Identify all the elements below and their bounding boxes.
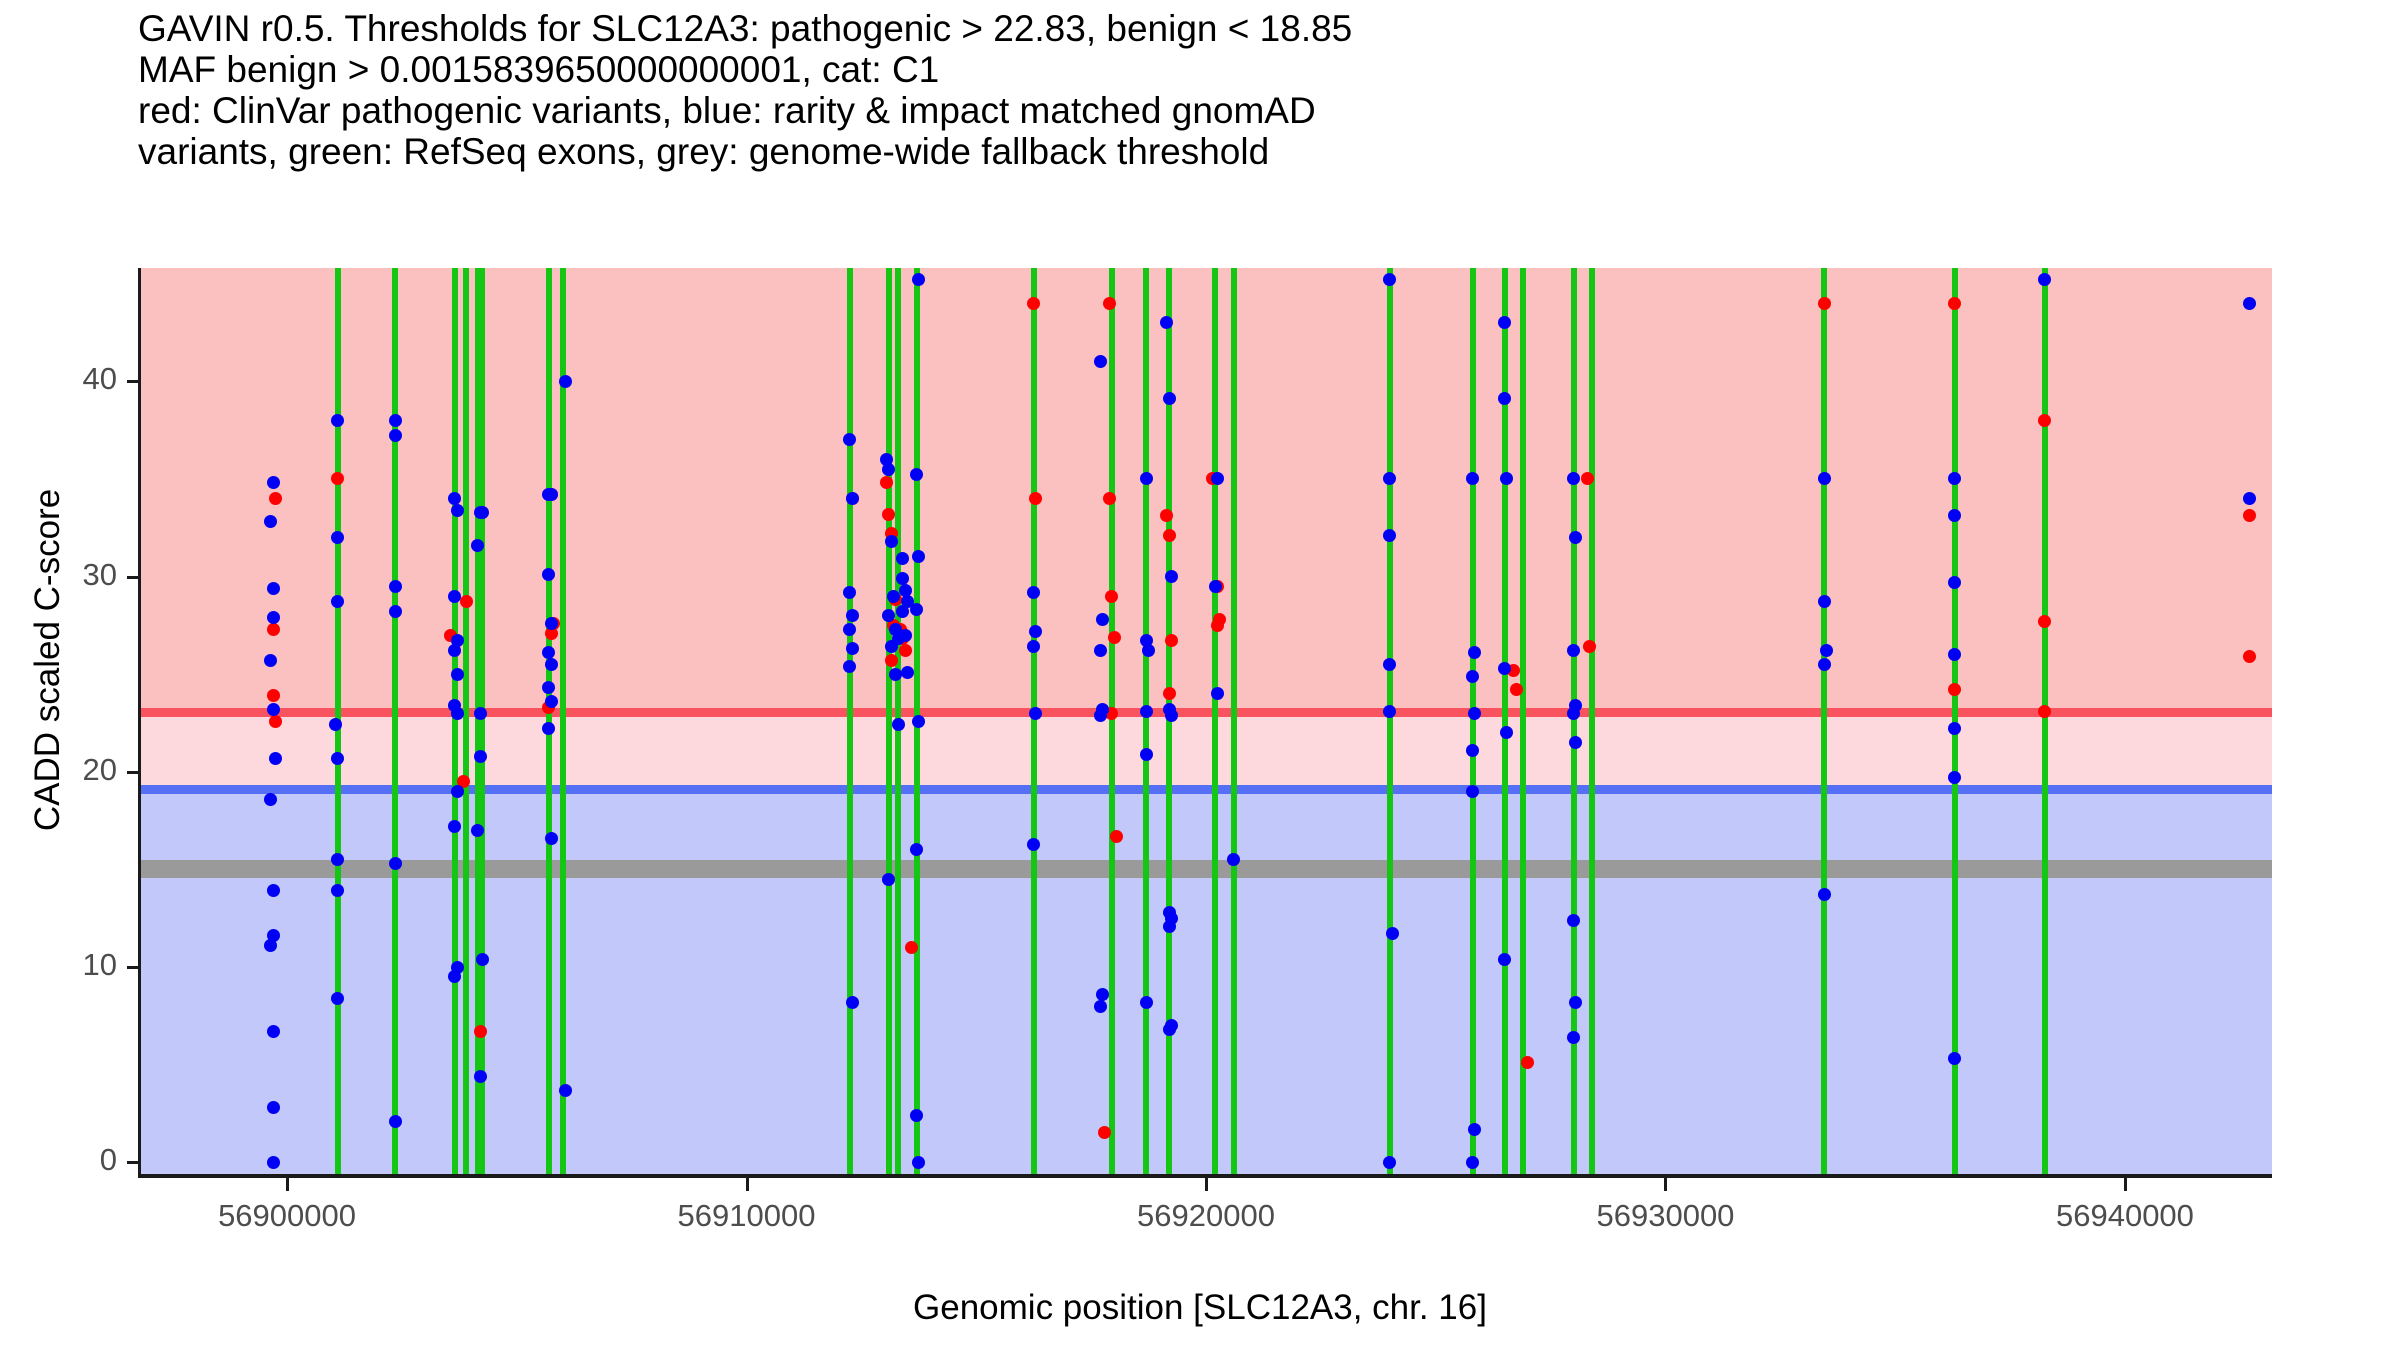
title-line-1: GAVIN r0.5. Thresholds for SLC12A3: path… <box>138 8 2338 49</box>
pathogenic-variant-point <box>2243 650 2256 663</box>
exon-marker <box>1387 268 1393 1174</box>
pathogenic-variant-point <box>1163 529 1176 542</box>
exon-marker <box>1143 268 1149 1174</box>
gnomad-variant-point <box>559 1084 572 1097</box>
gnomad-variant-point <box>451 504 464 517</box>
x-axis-tick-label: 56910000 <box>627 1198 867 1234</box>
y-axis-tick <box>127 576 139 579</box>
gnomad-variant-point <box>1096 988 1109 1001</box>
y-axis-tick <box>127 1161 139 1164</box>
pathogenic-variant-point <box>882 508 895 521</box>
gnomad-variant-point <box>1567 914 1580 927</box>
pathogenic-variant-point <box>1108 631 1121 644</box>
gnomad-variant-point <box>267 703 280 716</box>
exon-marker <box>463 268 469 1174</box>
gnomad-variant-point <box>1466 1156 1479 1169</box>
pathogenic-variant-point <box>1211 619 1224 632</box>
gnomad-variant-point <box>1094 1000 1107 1013</box>
gnomad-variant-point <box>448 590 461 603</box>
exon-marker <box>886 268 892 1174</box>
gnomad-variant-point <box>267 1156 280 1169</box>
gnomad-variant-point <box>1567 707 1580 720</box>
gnomad-variant-point <box>389 857 402 870</box>
x-axis-tick-label: 56920000 <box>1086 1198 1326 1234</box>
gnomad-variant-point <box>545 832 558 845</box>
pathogenic-variant-point <box>269 715 282 728</box>
pathogenic-variant-point <box>885 654 898 667</box>
gnomad-variant-point <box>474 750 487 763</box>
exon-marker <box>1821 268 1827 1174</box>
gnomad-variant-point <box>2243 492 2256 505</box>
gnomad-variant-point <box>1466 785 1479 798</box>
gnomad-variant-point <box>892 718 905 731</box>
x-axis-tick <box>286 1178 289 1191</box>
gnomad-variant-point <box>476 953 489 966</box>
gnomad-variant-point <box>1140 705 1153 718</box>
title-line-4: variants, green: RefSeq exons, grey: gen… <box>138 131 2338 172</box>
gnomad-variant-point <box>1466 670 1479 683</box>
gnomad-variant-point <box>545 617 558 630</box>
gnomad-variant-point <box>1569 996 1582 1009</box>
gnomad-variant-point <box>846 609 859 622</box>
gnomad-variant-point <box>1165 570 1178 583</box>
y-axis-tick-label: 0 <box>22 1142 117 1178</box>
x-axis-tick-label: 56940000 <box>2005 1198 2245 1234</box>
x-axis-title: Genomic position [SLC12A3, chr. 16] <box>600 1288 1800 1328</box>
gnomad-variant-point <box>2243 297 2256 310</box>
gnomad-variant-point <box>331 414 344 427</box>
gnomad-variant-point <box>1468 1123 1481 1136</box>
pathogenic-variant-point <box>1103 297 1116 310</box>
plot-panel <box>140 268 2272 1174</box>
gnomad-variant-point <box>389 605 402 618</box>
gnomad-variant-point <box>1468 707 1481 720</box>
chart-title-block: GAVIN r0.5. Thresholds for SLC12A3: path… <box>138 8 2338 172</box>
gnomad-variant-point <box>1567 1031 1580 1044</box>
exon-marker <box>2042 268 2048 1174</box>
gnomad-variant-point <box>1466 744 1479 757</box>
gnomad-variant-point <box>1163 920 1176 933</box>
exon-marker <box>1589 268 1595 1174</box>
pathogenic-variant-point <box>2038 615 2051 628</box>
gnomad-variant-point <box>331 531 344 544</box>
pathogenic-variant-point <box>2038 414 2051 427</box>
y-axis-tick <box>127 966 139 969</box>
gnomad-variant-point <box>846 996 859 1009</box>
gnomad-variant-point <box>1209 580 1222 593</box>
gnomad-variant-point <box>267 1025 280 1038</box>
gnomad-variant-point <box>1140 996 1153 1009</box>
gnomad-variant-point <box>1027 586 1040 599</box>
exon-marker <box>452 268 458 1174</box>
gnomad-variant-point <box>269 752 282 765</box>
x-axis-tick <box>1664 1178 1667 1191</box>
gnomad-variant-point <box>1818 595 1831 608</box>
gnomad-variant-point <box>1383 1156 1396 1169</box>
gnomad-variant-point <box>476 506 489 519</box>
gnomad-variant-point <box>1163 1023 1176 1036</box>
gnomad-variant-point <box>1096 613 1109 626</box>
exon-marker <box>1109 268 1115 1174</box>
title-line-2: MAF benign > 0.0015839650000000001, cat:… <box>138 49 2338 90</box>
exon-marker <box>1952 268 1958 1174</box>
exon-marker <box>1212 268 1218 1174</box>
gnomad-variant-point <box>545 488 558 501</box>
gnomad-variant-point <box>1163 392 1176 405</box>
y-axis-tick <box>127 771 139 774</box>
gnomad-variant-point <box>910 1109 923 1122</box>
gnomad-variant-point <box>1383 705 1396 718</box>
gnomad-variant-point <box>331 992 344 1005</box>
gnomad-variant-point <box>885 535 898 548</box>
gnomad-variant-point <box>1818 888 1831 901</box>
gnomad-variant-point <box>331 752 344 765</box>
exon-marker <box>1520 268 1526 1174</box>
y-axis-title: CADD scaled C-score <box>28 260 68 1060</box>
x-axis-tick <box>1205 1178 1208 1191</box>
gnomad-variant-point <box>1094 709 1107 722</box>
chart-page: GAVIN r0.5. Thresholds for SLC12A3: path… <box>0 0 2400 1350</box>
y-axis-tick <box>127 380 139 383</box>
gnomad-variant-point <box>264 793 277 806</box>
pathogenic-variant-point <box>474 1025 487 1038</box>
exon-marker <box>1231 268 1237 1174</box>
gnomad-variant-point <box>1820 644 1833 657</box>
pathogenic-variant-point <box>1103 492 1116 505</box>
pathogenic-variant-point <box>1105 590 1118 603</box>
pathogenic-variant-point <box>2243 509 2256 522</box>
exon-marker <box>479 268 485 1174</box>
gnomad-variant-point <box>451 707 464 720</box>
exon-marker <box>1470 268 1476 1174</box>
gnomad-variant-point <box>545 658 558 671</box>
gnomad-variant-point <box>545 695 558 708</box>
gnomad-variant-point <box>451 785 464 798</box>
gnomad-variant-point <box>1094 644 1107 657</box>
gnomad-variant-point <box>1498 662 1511 675</box>
pathogenic-variant-point <box>267 623 280 636</box>
gnomad-variant-point <box>846 492 859 505</box>
plot-clip-area <box>140 268 2272 1174</box>
pathogenic-variant-point <box>2038 705 2051 718</box>
pathogenic-variant-point <box>899 644 912 657</box>
x-axis-tick-label: 56930000 <box>1545 1198 1785 1234</box>
gnomad-variant-point <box>1498 953 1511 966</box>
gnomad-variant-point <box>1386 927 1399 940</box>
gnomad-variant-point <box>471 539 484 552</box>
gnomad-variant-point <box>1818 472 1831 485</box>
y-axis-line <box>138 268 141 1174</box>
gnomad-variant-point <box>1165 709 1178 722</box>
exon-marker <box>1031 268 1037 1174</box>
pathogenic-variant-point <box>1510 683 1523 696</box>
gnomad-variant-point <box>471 824 484 837</box>
gnomad-variant-point <box>559 375 572 388</box>
gnomad-variant-point <box>1027 838 1040 851</box>
exon-marker <box>560 268 566 1174</box>
gnomad-variant-point <box>267 611 280 624</box>
pathogenic-variant-point <box>1163 687 1176 700</box>
gnomad-variant-point <box>1094 355 1107 368</box>
pathogenic-variant-point <box>269 492 282 505</box>
title-line-3: red: ClinVar pathogenic variants, blue: … <box>138 90 2338 131</box>
gnomad-variant-point <box>389 414 402 427</box>
gnomad-variant-point <box>389 580 402 593</box>
gnomad-variant-point <box>899 629 912 642</box>
gnomad-variant-point <box>846 642 859 655</box>
gnomad-variant-point <box>474 1070 487 1083</box>
exon-marker <box>546 268 552 1174</box>
pathogenic-variant-point <box>1027 297 1040 310</box>
gnomad-variant-point <box>389 429 402 442</box>
gnomad-variant-point <box>1140 748 1153 761</box>
gnomad-variant-point <box>267 1101 280 1114</box>
gnomad-variant-point <box>267 476 280 489</box>
gnomad-variant-point <box>843 586 856 599</box>
x-axis-tick <box>746 1178 749 1191</box>
exon-marker <box>847 268 853 1174</box>
gnomad-variant-point <box>451 668 464 681</box>
gnomad-variant-point <box>1818 658 1831 671</box>
gnomad-variant-point <box>267 582 280 595</box>
pathogenic-variant-point <box>1818 297 1831 310</box>
pathogenic-variant-point <box>267 689 280 702</box>
gnomad-variant-point <box>912 715 925 728</box>
gnomad-variant-point <box>389 1115 402 1128</box>
gnomad-variant-point <box>885 640 898 653</box>
gnomad-variant-point <box>901 666 914 679</box>
gnomad-variant-point <box>474 707 487 720</box>
x-axis-tick-label: 56900000 <box>167 1198 407 1234</box>
pathogenic-variant-point <box>1110 830 1123 843</box>
x-axis-tick <box>2124 1178 2127 1191</box>
exon-marker <box>392 268 398 1174</box>
